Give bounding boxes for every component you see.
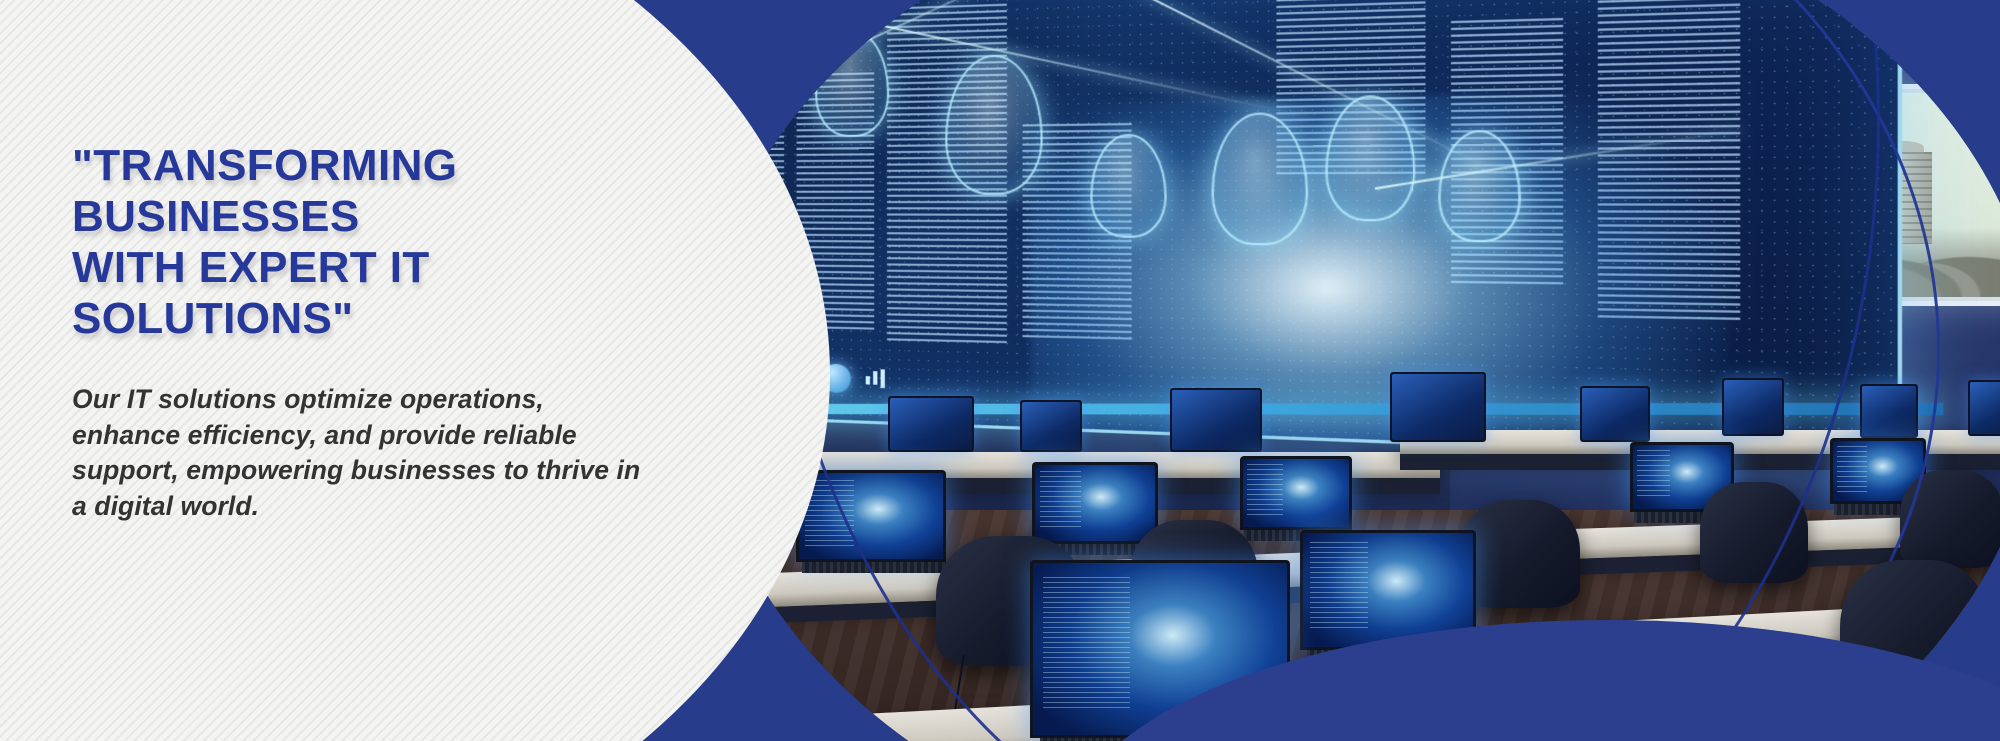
headline-line-1: "TRANSFORMING BUSINESSES: [72, 141, 457, 241]
headline-line-2: WITH EXPERT IT SOLUTIONS": [72, 242, 712, 344]
hero-copy: "TRANSFORMING BUSINESSES WITH EXPERT IT …: [72, 140, 712, 524]
classroom-photo: [700, 0, 2000, 741]
monitor-screen: [1970, 382, 2000, 434]
hero-paragraph: Our IT solutions optimize operations, en…: [72, 382, 647, 524]
photo-scene: [700, 0, 2000, 741]
hero-banner: "TRANSFORMING BUSINESSES WITH EXPERT IT …: [0, 0, 2000, 741]
page-title: "TRANSFORMING BUSINESSES WITH EXPERT IT …: [72, 140, 712, 344]
lamp-cord: [1870, 0, 1872, 28]
monitor-back: [1968, 380, 2000, 436]
